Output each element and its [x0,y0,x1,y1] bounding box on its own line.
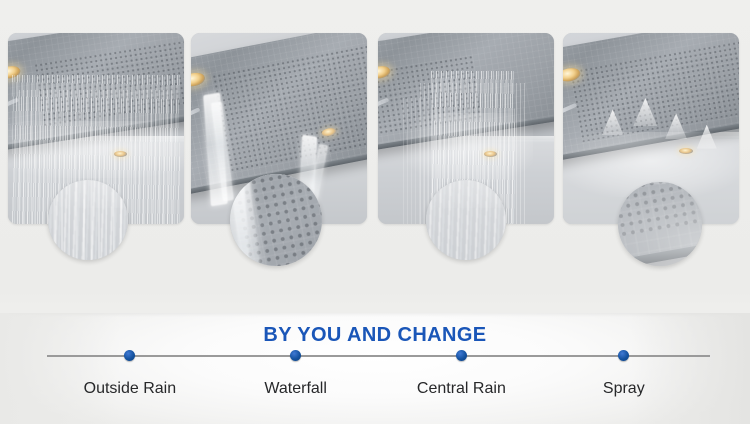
selector-dot-outside-rain[interactable] [124,350,135,361]
gallery-panel-spray[interactable] [563,33,739,224]
selector-dot-spray[interactable] [618,350,629,361]
selector-line [47,355,710,357]
selector-label-outside-rain[interactable]: Outside Rain [84,380,177,398]
selector-dot-central-rain[interactable] [456,350,467,361]
magnifier-waterfall [230,174,322,266]
selector-label-spray[interactable]: Spray [603,380,645,398]
page-headline: BY YOU AND CHANGE [0,324,750,347]
gallery-panel-central-rain[interactable] [378,33,554,224]
gallery-panel-waterfall[interactable] [191,33,367,224]
selector-label-central-rain[interactable]: Central Rain [417,380,506,398]
selector-label-waterfall[interactable]: Waterfall [264,380,327,398]
magnifier-spray [618,182,702,266]
product-image-gallery [0,0,750,300]
selector-dot-waterfall[interactable] [290,350,301,361]
gallery-panel-outside-rain[interactable] [8,33,184,224]
mode-selector-band: BY YOU AND CHANGE Outside Rain Waterfall… [0,313,750,424]
magnifier-central-rain [426,180,506,260]
product-feature-banner: BY YOU AND CHANGE Outside Rain Waterfall… [0,0,750,424]
magnifier-outside-rain [48,180,128,260]
mode-selector-track[interactable]: Outside Rain Waterfall Central Rain Spra… [47,354,710,357]
